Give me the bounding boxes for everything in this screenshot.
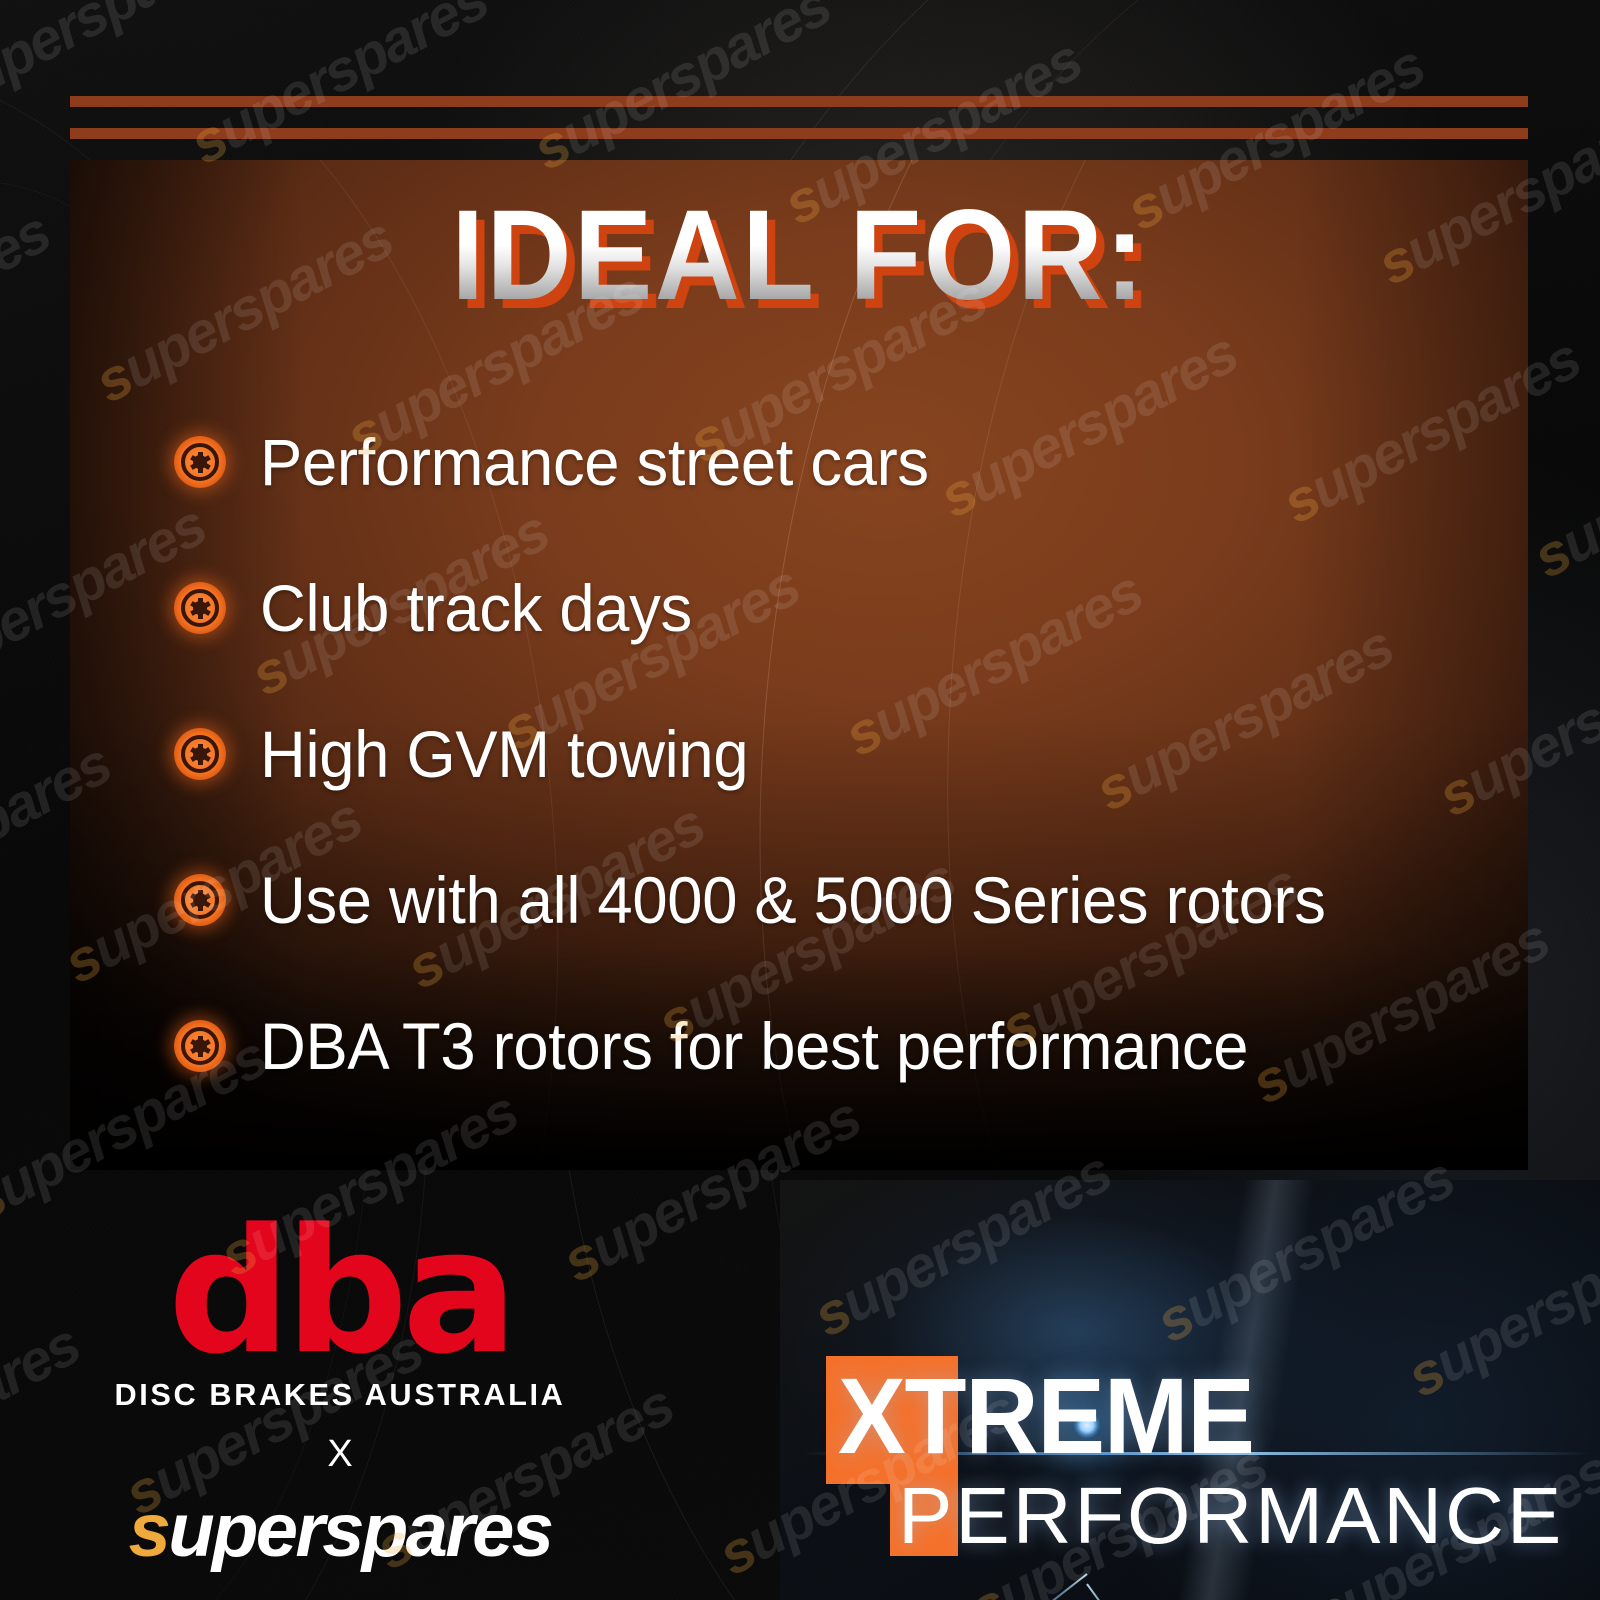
list-item-label: Use with all 4000 & 5000 Series rotors <box>260 867 1326 933</box>
list-item: High GVM towing <box>174 700 1488 808</box>
partnership-separator: X <box>60 1435 620 1473</box>
logo-band: dba DISC BRAKES AUSTRALIA X superspares … <box>0 1180 1600 1600</box>
superspares-logo: superspares <box>60 1493 620 1569</box>
page-title: IDEAL FOR: <box>128 192 1469 320</box>
dba-tagline: DISC BRAKES AUSTRALIA <box>63 1377 617 1413</box>
superspares-logo-lead: s <box>129 1488 169 1573</box>
list-item: Club track days <box>174 554 1488 662</box>
top-divider-line-2 <box>70 128 1528 139</box>
rotor-icon <box>174 1020 226 1072</box>
dba-wordmark: dba <box>60 1210 620 1373</box>
rotor-icon <box>174 436 226 488</box>
dba-logo-block: dba DISC BRAKES AUSTRALIA X superspares <box>60 1210 620 1569</box>
feature-list: Performance street cars Club track days <box>174 408 1488 1100</box>
list-item-label: Performance street cars <box>260 429 929 495</box>
superspares-logo-rest: uperspares <box>168 1488 551 1573</box>
list-item-label: DBA T3 rotors for best performance <box>260 1013 1248 1079</box>
top-divider-line-1 <box>70 96 1528 107</box>
list-item-label: Club track days <box>260 575 692 641</box>
list-item: Performance street cars <box>174 408 1488 516</box>
product-feature-card: IDEAL FOR: Performance street cars <box>0 0 1600 1600</box>
rotor-icon <box>174 874 226 926</box>
rotor-icon <box>174 728 226 780</box>
xtreme-performance-logo-block: XTREME PERFORMANCE <box>780 1180 1600 1600</box>
list-item: DBA T3 rotors for best performance <box>174 992 1488 1100</box>
list-item: Use with all 4000 & 5000 Series rotors <box>174 846 1488 954</box>
list-item-label: High GVM towing <box>260 721 748 787</box>
rotor-icon <box>174 582 226 634</box>
content-panel: IDEAL FOR: Performance street cars <box>70 160 1528 1170</box>
xtreme-wordmark: XTREME <box>838 1362 1254 1470</box>
performance-wordmark: PERFORMANCE <box>898 1476 1564 1556</box>
